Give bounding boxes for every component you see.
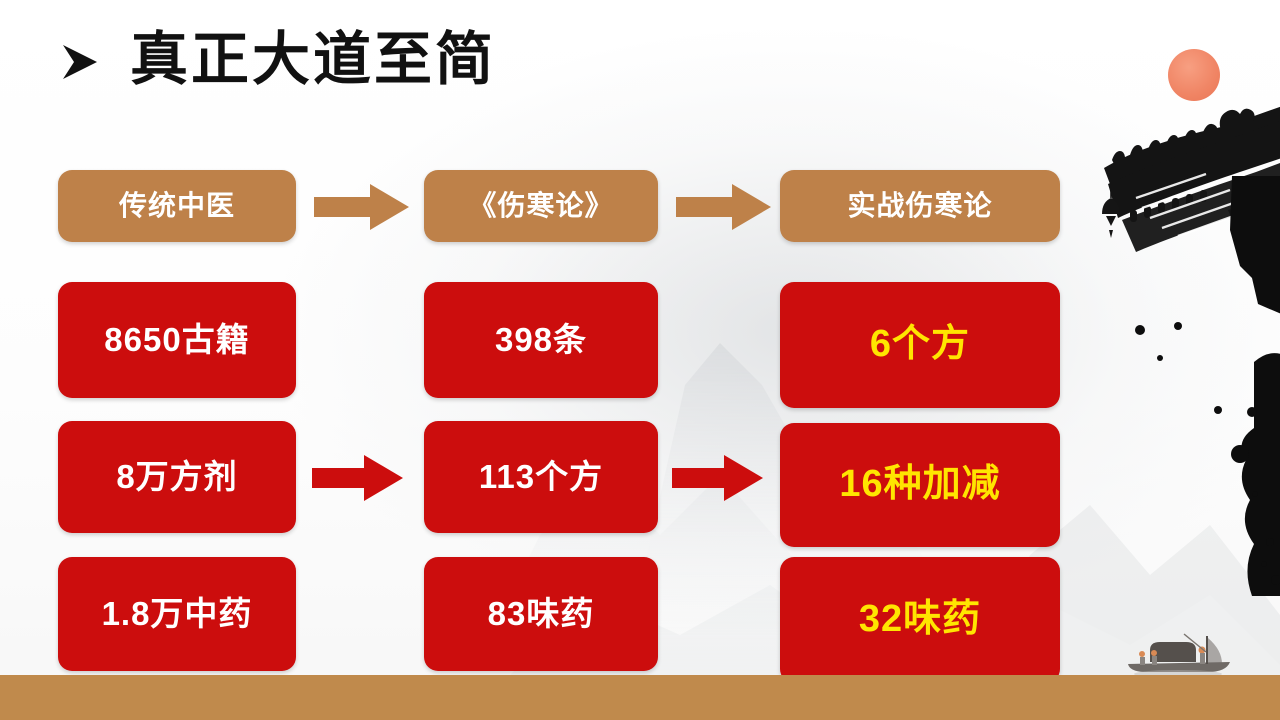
right-arrow-icon-row2-1 xyxy=(312,452,404,504)
cell-row1-col3[interactable]: 6个方 xyxy=(780,282,1060,408)
ink-splash-icon xyxy=(1196,176,1280,596)
slide-canvas: 真正大道至简 传统中医 《伤寒论》 实战伤寒论 8650古籍 398条 6个方 … xyxy=(0,0,1280,720)
header-box-traditional-tcm[interactable]: 传统中医 xyxy=(58,170,296,242)
cell-row1-col1[interactable]: 8650古籍 xyxy=(58,282,296,398)
right-arrow-icon-header-2 xyxy=(676,182,772,232)
page-title-text: 真正大道至简 xyxy=(130,30,496,88)
cell-row1-col2[interactable]: 398条 xyxy=(424,282,658,398)
hanging-bell-icon xyxy=(1098,172,1124,248)
arrow-bullet-icon xyxy=(58,39,100,85)
bottom-band xyxy=(0,675,1280,720)
sun-icon xyxy=(1168,49,1220,101)
ink-droplets-icon xyxy=(1130,318,1200,378)
right-arrow-icon-row2-2 xyxy=(672,452,764,504)
cell-row2-col2[interactable]: 113个方 xyxy=(424,421,658,533)
cell-row2-col3[interactable]: 16种加减 xyxy=(780,423,1060,547)
page-title: 真正大道至简 xyxy=(58,30,496,88)
cell-row2-col1[interactable]: 8万方剂 xyxy=(58,421,296,533)
cell-row3-col2[interactable]: 83味药 xyxy=(424,557,658,671)
cell-row3-col3[interactable]: 32味药 xyxy=(780,557,1060,683)
boat-icon xyxy=(1122,628,1234,678)
header-box-practical-shanghanlun[interactable]: 实战伤寒论 xyxy=(780,170,1060,242)
cell-row3-col1[interactable]: 1.8万中药 xyxy=(58,557,296,671)
temple-eave-icon xyxy=(1078,60,1280,260)
right-arrow-icon-header-1 xyxy=(314,182,410,232)
header-box-shanghanlun[interactable]: 《伤寒论》 xyxy=(424,170,658,242)
